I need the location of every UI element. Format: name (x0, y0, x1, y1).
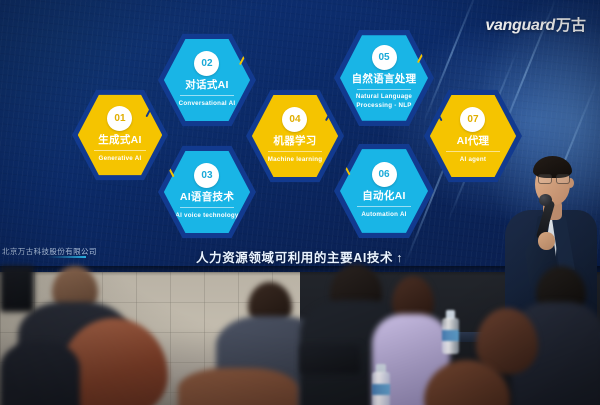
hexagon-07-cn-label: AI代理 (457, 135, 490, 147)
hexagon-01-divider (94, 150, 146, 151)
hexagon-04-number: 04 (282, 107, 307, 132)
hexagon-04-en-label: Machine learning (261, 156, 330, 165)
hexagon-06-cn-label: 自动化AI (362, 190, 406, 202)
hexagon-02: 02 对话式AI Conversational AI (158, 32, 256, 128)
hexagon-05-divider (357, 89, 412, 90)
slide-caption: 人力资源领域可利用的主要AI技术↑ (196, 247, 403, 266)
hexagon-05-face: 05 自然语言处理 Natural Language Processing - … (340, 34, 428, 123)
hexagon-01-number: 01 (107, 106, 132, 131)
hexagon-07-accent-tick (431, 103, 442, 122)
hexagon-03: 03 AI语音技术 AI voice technology (158, 144, 256, 240)
hexagon-04-accent-tick (325, 101, 337, 121)
hexagon-02-accent-tick (239, 45, 251, 65)
hexagon-02-number: 02 (194, 51, 219, 76)
hexagon-01: 01 生成式AI Generative AI (72, 88, 168, 182)
audience-body (178, 368, 298, 405)
bottle-label (442, 330, 459, 341)
hexagon-03-face: 03 AI语音技术 AI voice technology (164, 149, 250, 234)
hexagon-03-number: 03 (194, 163, 219, 188)
audience (0, 272, 600, 405)
hexagon-01-en-label: Generative AI (92, 155, 149, 164)
hexagon-03-divider (180, 207, 233, 208)
hexagon-05-number: 05 (372, 45, 397, 70)
hexagon-04-divider (268, 151, 321, 152)
hexagon-03-accent-tick (163, 159, 174, 178)
caption-text: 人力资源领域可利用的主要AI技术 (196, 251, 393, 265)
hexagon-06-divider (357, 206, 412, 207)
hexagon-05-accent-tick (417, 43, 429, 63)
presenter-glasses-icon (538, 174, 568, 182)
hexagon-03-en-label: AI voice technology (168, 212, 245, 221)
hexagon-05-cn-label: 自然语言处理 (352, 73, 417, 85)
water-bottle (442, 310, 459, 356)
hexagon-07-number: 07 (460, 107, 485, 132)
hexagon-02-en-label: Conversational AI (172, 100, 243, 109)
hexagon-04-cn-label: 机器学习 (273, 135, 316, 147)
screenshot-root: vanguard万古 01 生成式AI Generative AI 02 对话式… (0, 0, 600, 405)
company-corner-mark: 北京万古科技股份有限公司 (2, 246, 97, 257)
chair-back (0, 266, 34, 312)
hexagon-06-accent-tick (339, 157, 350, 176)
hexagon-04: 04 机器学习 Machine learning (246, 88, 344, 184)
hexagon-07-en-label: AI agent (453, 156, 493, 165)
bottle-label (372, 384, 390, 395)
hexagon-07-face: 07 AI代理 AI agent (430, 93, 516, 178)
hexagon-02-divider (180, 95, 233, 96)
hexagon-06: 06 自动化AI Automation AI (334, 142, 434, 240)
hexagon-07-divider (446, 151, 499, 152)
hexagon-02-face: 02 对话式AI Conversational AI (164, 37, 250, 122)
hexagon-04-face: 04 机器学习 Machine learning (252, 93, 338, 178)
microphone-head-icon (539, 194, 552, 206)
caption-arrow-icon: ↑ (396, 251, 403, 265)
audience-body (0, 342, 80, 405)
hexagon-02-cn-label: 对话式AI (185, 79, 229, 91)
hexagon-06-face: 06 自动化AI Automation AI (340, 147, 428, 234)
hexagon-03-cn-label: AI语音技术 (180, 191, 234, 203)
presenter-hand (538, 232, 555, 250)
chair-back (300, 344, 360, 374)
hexagon-06-en-label: Automation AI (354, 211, 413, 220)
hexagon-01-face: 01 生成式AI Generative AI (78, 93, 162, 177)
hexagon-06-number: 06 (372, 162, 397, 187)
hexagon-05: 05 自然语言处理 Natural Language Processing - … (334, 28, 434, 128)
hexagon-05-en-label: Natural Language Processing - NLP (349, 93, 419, 111)
hexagon-01-cn-label: 生成式AI (98, 134, 142, 146)
water-bottle (372, 364, 390, 405)
